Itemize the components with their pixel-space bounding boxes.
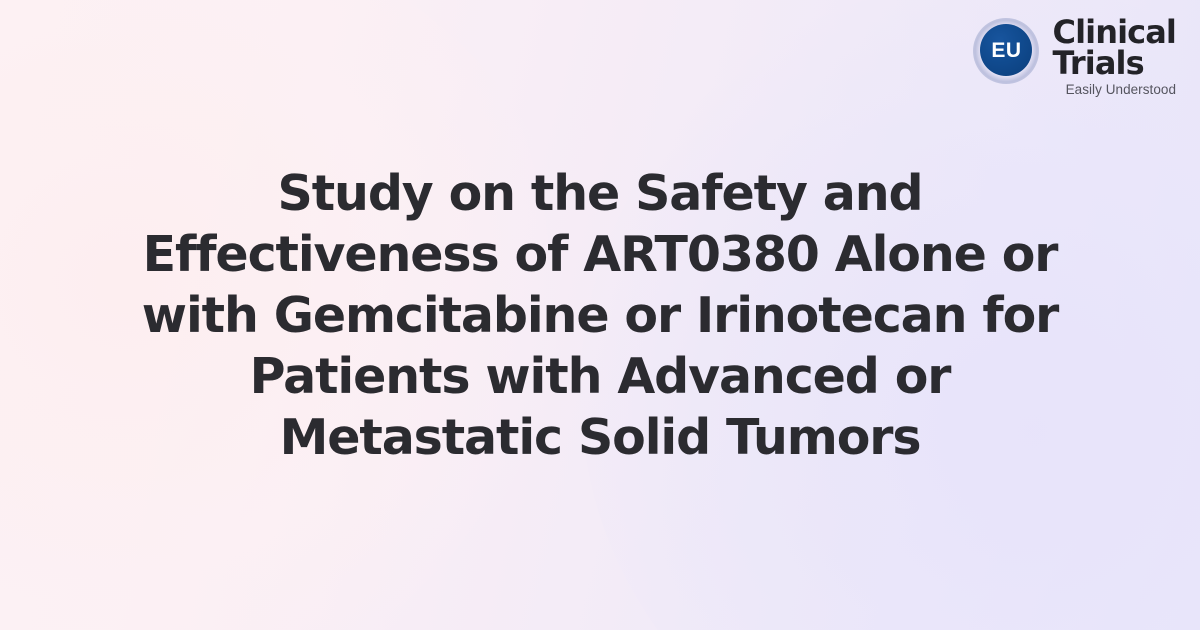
social-share-card: EU Clinical Trials Easily Understood Stu…: [0, 0, 1200, 630]
eu-logo-mark: EU: [973, 18, 1039, 84]
brand-tagline: Easily Understood: [1052, 83, 1176, 97]
title-line: Metastatic Solid Tumors: [140, 407, 1060, 468]
title-line: Effectiveness of ART0380 Alone or: [140, 224, 1060, 285]
title-line: Patients with Advanced or: [140, 346, 1060, 407]
brand-logo[interactable]: EU Clinical Trials Easily Understood: [973, 16, 1176, 97]
brand-word-line-2: Trials: [1052, 48, 1176, 79]
logo-eu-label: EU: [991, 40, 1021, 61]
title-line: with Gemcitabine or Irinotecan for: [140, 285, 1060, 346]
page-title: Study on the Safety and Effectiveness of…: [140, 163, 1060, 468]
brand-wordmark: Clinical Trials Easily Understood: [1052, 16, 1176, 97]
title-line: Study on the Safety and: [140, 163, 1060, 224]
